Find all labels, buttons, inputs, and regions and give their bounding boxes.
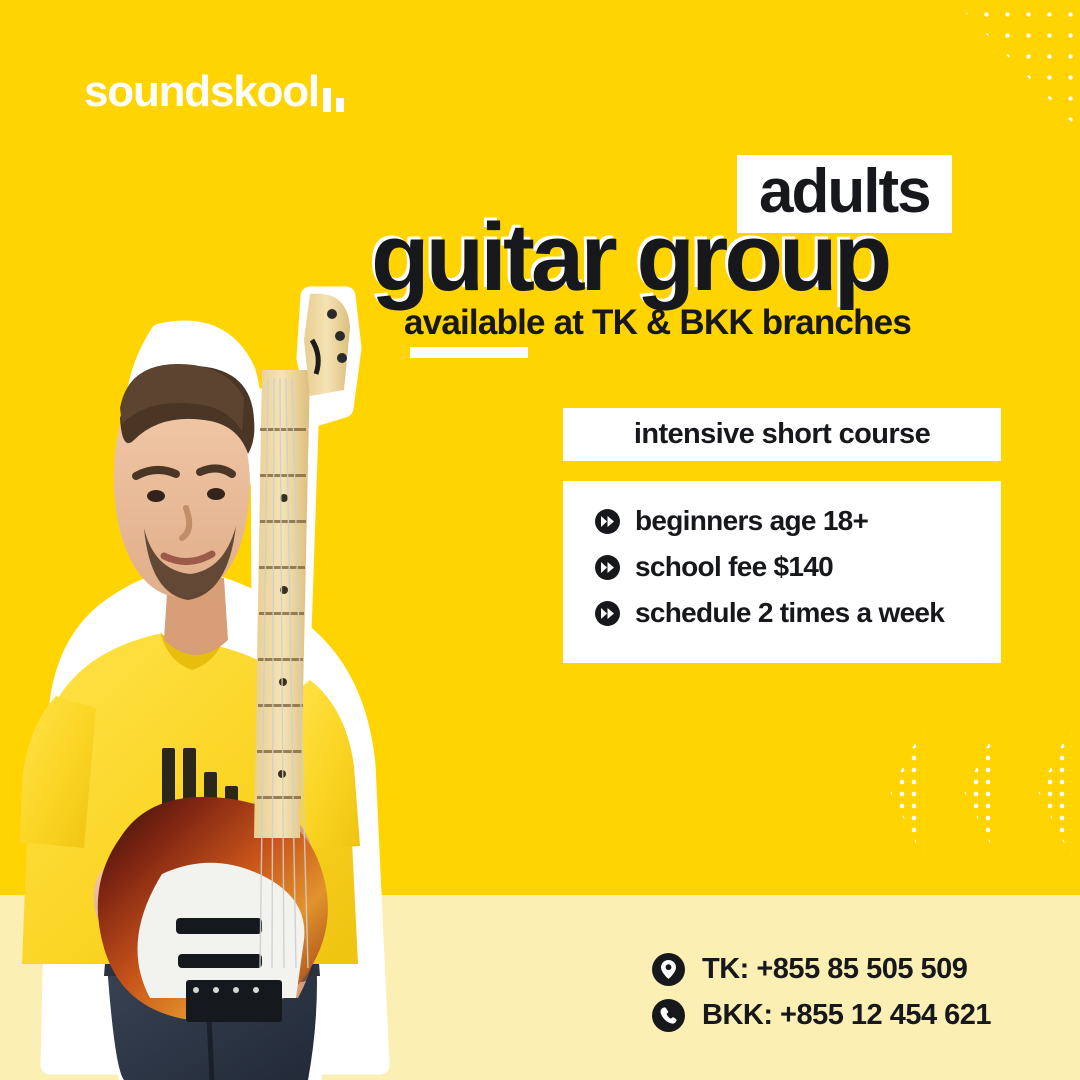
list-item-label: school fee $140	[635, 553, 833, 581]
page-title: guitar group	[371, 210, 1011, 306]
course-banner-label: intensive short course	[634, 418, 930, 451]
contact-block: TK: +855 85 505 509 BKK: +855 12 454 621	[652, 953, 991, 1032]
headline-subtitle: available at TK & BKK branches	[404, 305, 911, 340]
chevron-dot-pattern-icon	[858, 726, 1074, 858]
brand-logo-text: soundskool	[84, 70, 319, 114]
equalizer-bars-icon	[323, 88, 344, 114]
course-banner: intensive short course	[563, 408, 1001, 461]
map-pin-icon	[652, 953, 685, 986]
contact-row-bkk[interactable]: BKK: +855 12 454 621	[652, 999, 991, 1032]
contact-row-tk[interactable]: TK: +855 85 505 509	[652, 953, 991, 986]
list-item-label: schedule 2 times a week	[635, 599, 944, 627]
contact-label-tk: TK: +855 85 505 509	[702, 955, 967, 984]
fast-forward-icon	[595, 509, 620, 534]
list-item-label: beginners age 18+	[635, 507, 868, 535]
guitarist-photo	[10, 278, 430, 1080]
subtitle-underline	[410, 347, 528, 358]
fast-forward-icon	[595, 555, 620, 580]
list-item: beginners age 18+	[563, 507, 1001, 535]
fast-forward-icon	[595, 601, 620, 626]
chevron-shape	[858, 726, 924, 858]
course-feature-list: beginners age 18+ school fee $140 schedu…	[563, 481, 1001, 663]
list-item: schedule 2 times a week	[563, 599, 1001, 627]
list-item: school fee $140	[563, 553, 1001, 581]
chevron-shape	[1006, 726, 1072, 858]
phone-icon	[652, 999, 685, 1032]
promo-poster: soundskool adults guitar group available…	[0, 0, 1080, 1080]
chevron-shape	[932, 726, 998, 858]
contact-label-bkk: BKK: +855 12 454 621	[702, 1001, 991, 1030]
corner-dot-pattern-icon	[930, 0, 1080, 155]
brand-logo[interactable]: soundskool	[84, 70, 344, 114]
